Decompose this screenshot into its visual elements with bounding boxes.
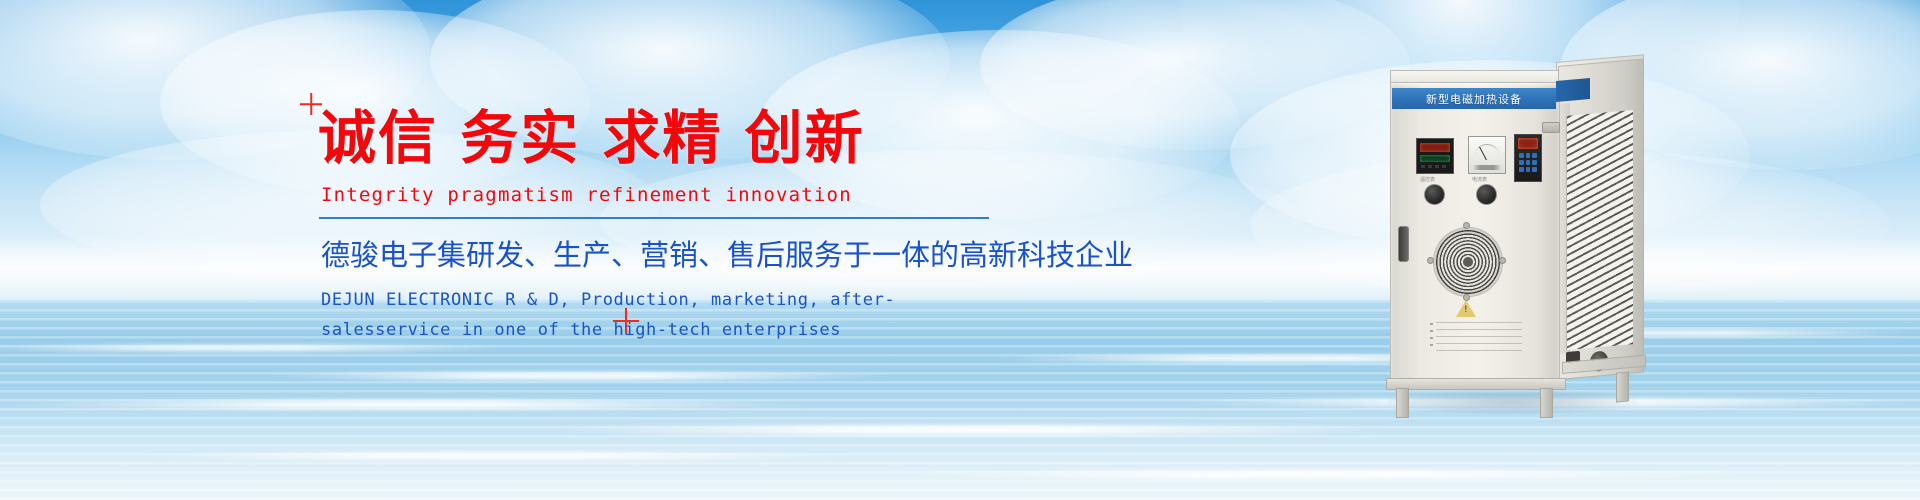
water-streak	[520, 425, 1420, 435]
gauge-scale	[1475, 144, 1499, 155]
promotional-banner: 诚信 务实 求精 创新 Integrity pragmatism refinem…	[0, 0, 1920, 500]
banner-copy: 诚信 务实 求精 创新 Integrity pragmatism refinem…	[318, 108, 1058, 346]
controller-buttons	[1421, 165, 1449, 168]
inverter-keys	[1519, 153, 1537, 172]
temperature-controller-display	[1416, 138, 1454, 174]
knob-label-right: 电流表	[1472, 176, 1487, 183]
machine-label-side	[1556, 78, 1590, 102]
water-streak	[880, 470, 1780, 479]
subtitle-english: DEJUN ELECTRONIC R & D, Production, mark…	[321, 286, 981, 346]
fan-screw	[1499, 257, 1506, 264]
control-knob-right	[1476, 184, 1497, 205]
subtitle-chinese: 德骏电子集研发、生产、营销、售后服务于一体的高新科技企业	[321, 238, 1058, 273]
machine-spec-text-lines	[1436, 322, 1522, 354]
machine-vent-louvers	[1566, 110, 1633, 350]
fan-screw	[1463, 222, 1470, 229]
machine-door-handle	[1398, 226, 1409, 262]
machine-leg	[1396, 388, 1409, 418]
water-streak	[0, 400, 820, 409]
knob-label-left: 温控表	[1420, 176, 1435, 183]
machine-base	[1386, 378, 1566, 390]
fan-screw	[1427, 257, 1434, 264]
machine-side-handle	[1542, 122, 1560, 133]
controller-red-readout	[1420, 143, 1450, 152]
analog-ammeter-gauge	[1468, 136, 1506, 174]
headline-english: Integrity pragmatism refinement innovati…	[321, 184, 1058, 206]
warning-triangle-icon	[1456, 300, 1476, 317]
headline-chinese: 诚信 务实 求精 创新	[318, 108, 1058, 168]
inverter-keypad-panel	[1514, 134, 1542, 182]
water-streak	[260, 372, 900, 380]
control-knob-left	[1424, 184, 1445, 205]
inverter-screen	[1518, 138, 1538, 149]
controller-green-readout	[1420, 155, 1450, 162]
machine-label-text: 新型电磁加热设备	[1392, 88, 1556, 109]
product-machine-image: 新型电磁加热设备 温控表 电流表	[1380, 60, 1680, 460]
machine-leg	[1616, 371, 1629, 402]
machine-leg	[1540, 388, 1553, 418]
gauge-brand-strip	[1469, 165, 1505, 170]
cooling-fan-grille	[1434, 228, 1502, 296]
water-streak	[120, 452, 880, 460]
divider-rule	[319, 217, 989, 219]
machine-shadow	[1388, 390, 1638, 414]
